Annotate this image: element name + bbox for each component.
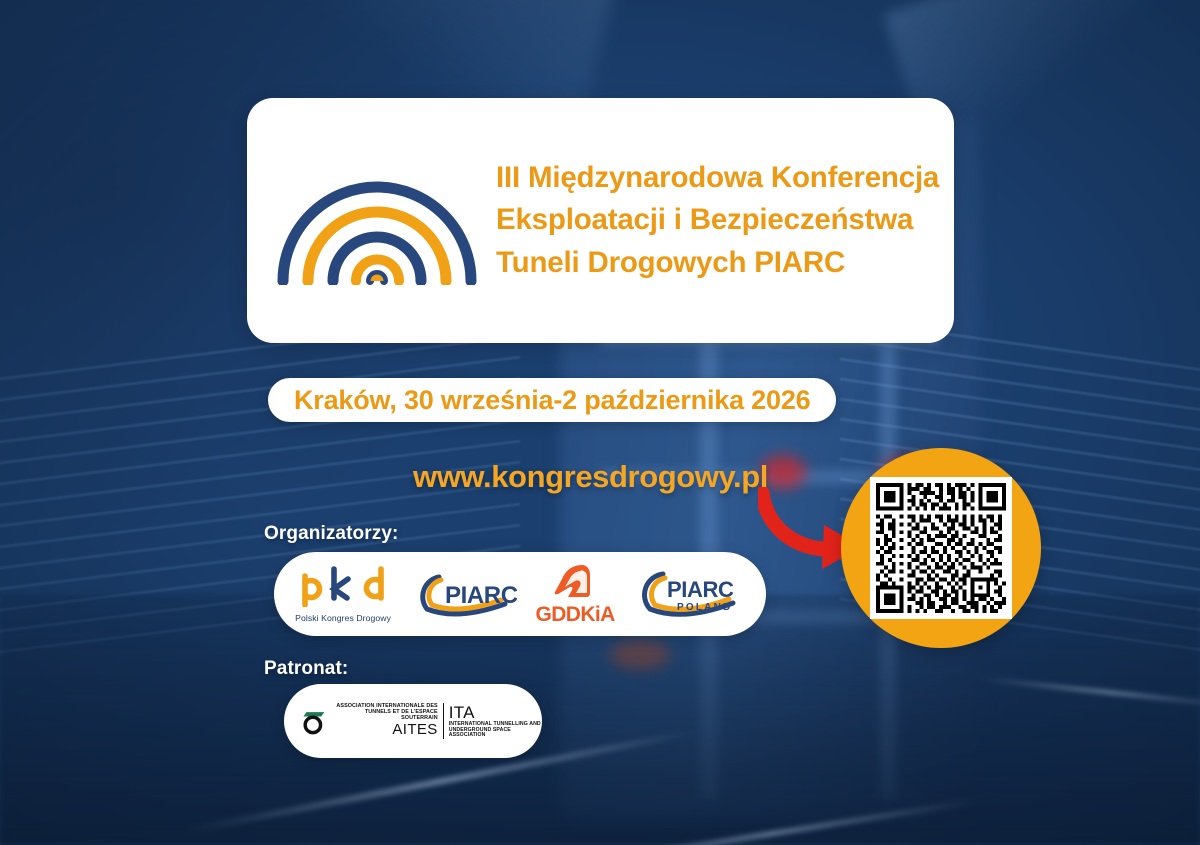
conference-poster: III Międzynarodowa Konferencja Eksploata…	[0, 0, 1200, 845]
website-url[interactable]: www.kongresdrogowy.pl	[413, 459, 768, 495]
ita-acronym: ITA	[449, 703, 542, 722]
svg-text:PIARC: PIARC	[445, 582, 517, 609]
piarc-logo: PIARC	[409, 571, 517, 617]
ita-english-description: INTERNATIONAL TUNNELLING AND UNDERGROUND…	[449, 722, 542, 739]
pkd-logo: Polski Kongres Drogowy	[295, 565, 391, 623]
piarc-poland-wordmark-icon: PIARC POLAND	[633, 569, 745, 619]
svg-text:POLAND: POLAND	[677, 602, 732, 613]
date-banner: Kraków, 30 września-2 października 2026	[268, 378, 836, 422]
qr-code-frame	[870, 477, 1012, 619]
title-line-2: Eksploatacji i Bezpieczeństwa	[496, 199, 954, 241]
title-text-block: III Międzynarodowa Konferencja Eksploata…	[496, 157, 954, 284]
title-card: III Międzynarodowa Konferencja Eksploata…	[247, 98, 954, 343]
title-line-1: III Międzynarodowa Konferencja	[496, 157, 954, 199]
gddkia-logo: GDDKiA	[535, 563, 614, 625]
piarc-wordmark-icon: PIARC	[409, 571, 517, 617]
qr-code[interactable]	[876, 483, 1006, 613]
tunnel-arches-logo	[269, 157, 484, 285]
title-line-3: Tuneli Drogowych PIARC	[496, 242, 954, 284]
gddkia-eagle-icon	[551, 563, 599, 599]
piarc-poland-logo: PIARC POLAND	[633, 569, 745, 619]
pkd-wordmark-icon	[295, 565, 391, 607]
organizers-label: Organizatorzy:	[264, 523, 398, 545]
qr-code-circle[interactable]	[841, 448, 1041, 648]
patronage-logo-strip: ASSOCIATION INTERNATIONALE DES TUNNELS E…	[284, 684, 542, 758]
ita-aites-text: ASSOCIATION INTERNATIONALE DES TUNNELS E…	[335, 703, 542, 739]
tunnel-arches-icon	[271, 157, 483, 285]
gddkia-wordmark: GDDKiA	[535, 604, 614, 625]
svg-text:PIARC: PIARC	[667, 577, 734, 602]
ita-french-description: ASSOCIATION INTERNATIONALE DES TUNNELS E…	[335, 703, 438, 721]
patronage-label: Patronat:	[264, 658, 348, 680]
ita-aites-mark-icon	[300, 692, 329, 750]
organizers-logo-strip: Polski Kongres Drogowy PIARC GDDKiA	[274, 552, 766, 636]
pkd-caption: Polski Kongres Drogowy	[295, 614, 391, 623]
aites-acronym: AITES	[335, 722, 438, 739]
date-text: Kraków, 30 września-2 października 2026	[294, 385, 810, 416]
